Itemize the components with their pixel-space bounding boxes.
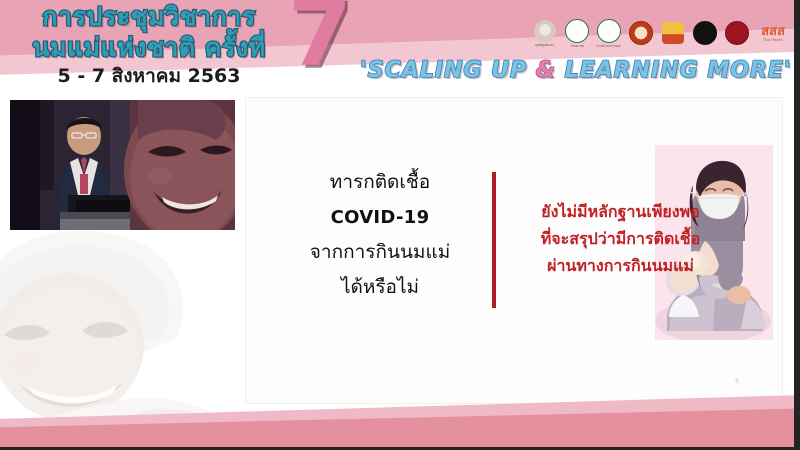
vertical-divider — [492, 172, 496, 308]
sponsor-logo-strip: มูลนิธิศูนย์นมแม่ กรมอนามัย กระทรวงสาธาร… — [532, 18, 790, 48]
royal-emblem-logo: มูลนิธิศูนย์นมแม่ — [532, 18, 558, 48]
speaker-video-thumbnail[interactable] — [10, 100, 235, 230]
slide-number: 6 — [735, 377, 739, 385]
edition-number: 7 — [288, 0, 352, 80]
thaihealth-sss-logo: สสสThai Health — [756, 18, 790, 48]
sss-text: สสส — [761, 25, 785, 38]
question-line1: ทารกติดเชื้อ — [280, 165, 480, 200]
red-seal-icon — [725, 21, 749, 45]
answer-line2: ที่จะสรุปว่ามีการติดเชื้อ — [503, 225, 738, 252]
question-line3: จากการกินนมแม่ — [280, 235, 480, 270]
orange-seal-logo — [628, 18, 654, 48]
ministry-health-logo-2: กระทรวงสาธารณสุข — [596, 18, 622, 48]
conference-date: 5 - 7 สิงหาคม 2563 — [18, 63, 280, 89]
tagline-suffix: LEARNING MORE' — [556, 58, 792, 83]
tagline-prefix: 'SCALING UP — [360, 58, 536, 83]
answer-line1: ยังไม่มีหลักฐานเพียงพอ — [503, 198, 738, 225]
conference-title: การประชุมวิชาการ นมแม่แห่งชาติ ครั้งที่ … — [18, 2, 280, 89]
flame-emblem-logo — [660, 18, 686, 48]
conference-title-line2: นมแม่แห่งชาติ ครั้งที่ — [18, 32, 280, 63]
ministry-caption-1: กรมอนามัย — [570, 44, 583, 48]
orange-seal-icon — [629, 21, 653, 45]
caduceus-icon-1 — [565, 19, 589, 43]
royal-emblem-caption: มูลนิธิศูนย์นมแม่ — [535, 43, 554, 47]
answer-text: ยังไม่มีหลักฐานเพียงพอ ที่จะสรุปว่ามีการ… — [503, 198, 738, 279]
player-frame-right — [794, 0, 800, 450]
conference-title-line1: การประชุมวิชาการ — [18, 2, 280, 32]
black-seal-icon — [693, 21, 717, 45]
question-line2: COVID-19 — [280, 200, 480, 235]
royal-emblem-icon — [534, 20, 556, 42]
black-seal-logo — [692, 18, 718, 48]
flame-emblem-icon — [662, 22, 684, 44]
conference-tagline: 'SCALING UP & LEARNING MORE' — [360, 58, 792, 83]
answer-line3: ผ่านทางการกินนมแม่ — [503, 252, 738, 279]
sss-subtext: Thai Health — [763, 38, 783, 42]
slide-stage: การประชุมวิชาการ นมแม่แห่งชาติ ครั้งที่ … — [0, 0, 800, 450]
tagline-ampersand: & — [536, 58, 556, 83]
ministry-caption-2: กระทรวงสาธารณสุข — [597, 44, 621, 48]
ministry-health-logo-1: กรมอนามัย — [564, 18, 590, 48]
question-line4: ได้หรือไม่ — [280, 270, 480, 305]
caduceus-icon-2 — [597, 19, 621, 43]
red-seal-logo — [724, 18, 750, 48]
footer-band — [0, 395, 800, 447]
question-text: ทารกติดเชื้อ COVID-19 จากการกินนมแม่ ได้… — [280, 165, 480, 305]
